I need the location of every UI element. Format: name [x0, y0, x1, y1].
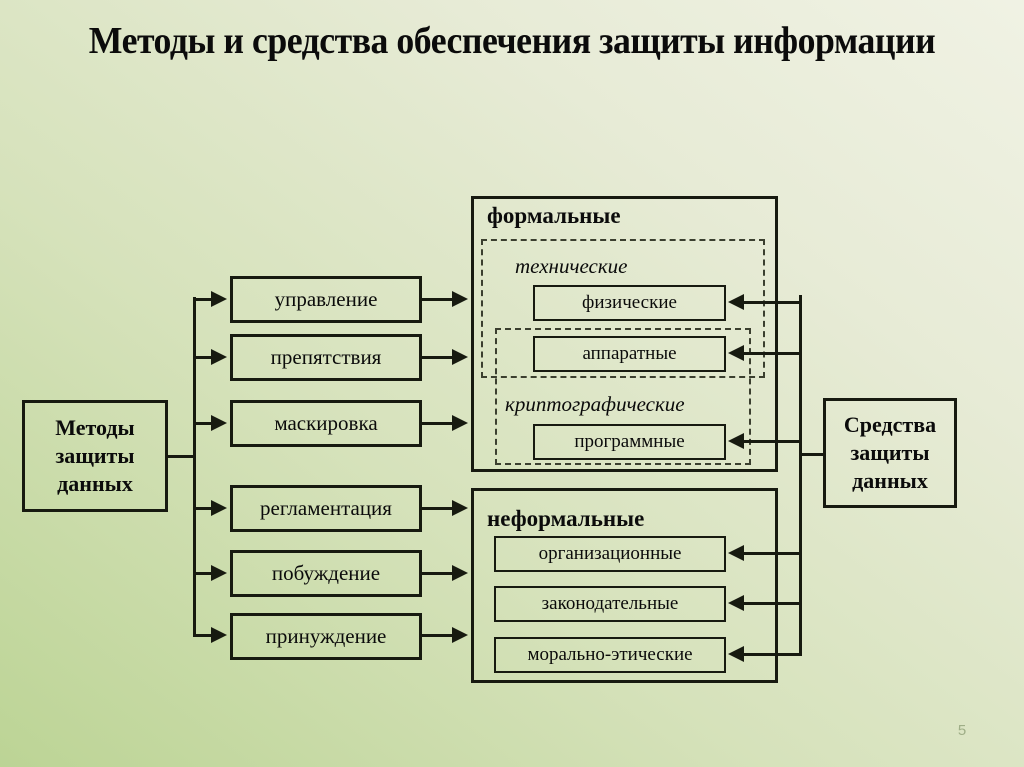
- arrow-bus-to-moral-ethical: [728, 646, 744, 662]
- subgroup-title-cryptographic: криптографические: [505, 392, 685, 417]
- leaf-box-software: программные: [533, 424, 726, 460]
- connector-method-1-to-formal: [422, 298, 454, 301]
- leaf-box-physical: физические: [533, 285, 726, 321]
- arrow-bus-to-method-4: [211, 500, 227, 516]
- method-label: управление: [275, 287, 378, 312]
- method-label: принуждение: [266, 624, 387, 649]
- root-means-line-2: защиты: [850, 439, 929, 467]
- arrow-bus-to-method-2: [211, 349, 227, 365]
- arrow-bus-to-organizational: [728, 545, 744, 561]
- connector-method-3-to-formal: [422, 422, 454, 425]
- connector-method-4-to-informal: [422, 507, 454, 510]
- method-box-reglamentaciya: регламентация: [230, 485, 422, 532]
- connector-method-6-to-informal: [422, 634, 454, 637]
- connector-bus-to-moral-ethical: [744, 653, 802, 656]
- root-means-line-1: Средства: [844, 411, 936, 439]
- arrow-method-3-to-formal: [452, 415, 468, 431]
- leaf-box-moral-ethical: морально-этические: [494, 637, 726, 673]
- leaf-label: физические: [582, 292, 677, 314]
- slide-canvas: Методы и средства обеспечения защиты инф…: [0, 0, 1024, 767]
- method-label: препятствия: [271, 345, 382, 370]
- connector-bus-to-hardware: [744, 352, 802, 355]
- connector-bus-to-root-right: [799, 453, 825, 456]
- arrow-bus-to-physical: [728, 294, 744, 310]
- root-box-means: Средства защиты данных: [823, 398, 957, 508]
- page-title: Методы и средства обеспечения защиты инф…: [68, 16, 955, 66]
- leaf-label: законодательные: [542, 593, 679, 615]
- leaf-label: организационные: [539, 543, 682, 565]
- arrow-method-1-to-formal: [452, 291, 468, 307]
- method-box-upravlenie: управление: [230, 276, 422, 323]
- arrow-bus-to-software: [728, 433, 744, 449]
- connector-bus-to-legislative: [744, 602, 802, 605]
- method-label: побуждение: [272, 561, 380, 586]
- group-title-formal: формальные: [487, 203, 621, 229]
- leaf-label: программные: [574, 431, 684, 453]
- leaf-box-organizational: организационные: [494, 536, 726, 572]
- arrow-bus-to-method-3: [211, 415, 227, 431]
- connector-root-to-bus: [168, 455, 196, 458]
- root-methods-line-2: защиты: [55, 442, 134, 470]
- arrow-method-6-to-informal: [452, 627, 468, 643]
- leaf-box-legislative: законодательные: [494, 586, 726, 622]
- arrow-bus-to-method-5: [211, 565, 227, 581]
- connector-method-5-to-informal: [422, 572, 454, 575]
- root-methods-line-1: Методы: [55, 414, 134, 442]
- leaf-label: морально-этические: [527, 644, 692, 666]
- method-box-prepyatstviya: препятствия: [230, 334, 422, 381]
- leaf-label: аппаратные: [582, 343, 676, 365]
- subgroup-title-technical: технические: [515, 254, 627, 279]
- method-label: регламентация: [260, 496, 392, 521]
- page-number: 5: [950, 722, 974, 739]
- group-title-informal: неформальные: [487, 506, 644, 532]
- arrow-method-4-to-informal: [452, 500, 468, 516]
- root-methods-line-3: данных: [57, 470, 133, 498]
- leaf-box-hardware: аппаратные: [533, 336, 726, 372]
- connector-bus-to-physical: [744, 301, 802, 304]
- arrow-method-2-to-formal: [452, 349, 468, 365]
- right-collection-bus: [799, 295, 802, 653]
- arrow-method-5-to-informal: [452, 565, 468, 581]
- connector-bus-to-organizational: [744, 552, 802, 555]
- method-label: маскировка: [274, 411, 377, 436]
- arrow-bus-to-hardware: [728, 345, 744, 361]
- arrow-bus-to-method-1: [211, 291, 227, 307]
- connector-method-2-to-formal: [422, 356, 454, 359]
- method-box-maskirovka: маскировка: [230, 400, 422, 447]
- connector-bus-to-software: [744, 440, 802, 443]
- method-box-pobuzhdenie: побуждение: [230, 550, 422, 597]
- root-means-line-3: данных: [852, 467, 928, 495]
- arrow-bus-to-legislative: [728, 595, 744, 611]
- left-distribution-bus: [193, 297, 196, 635]
- root-box-methods: Методы защиты данных: [22, 400, 168, 512]
- arrow-bus-to-method-6: [211, 627, 227, 643]
- method-box-prinuzhdenie: принуждение: [230, 613, 422, 660]
